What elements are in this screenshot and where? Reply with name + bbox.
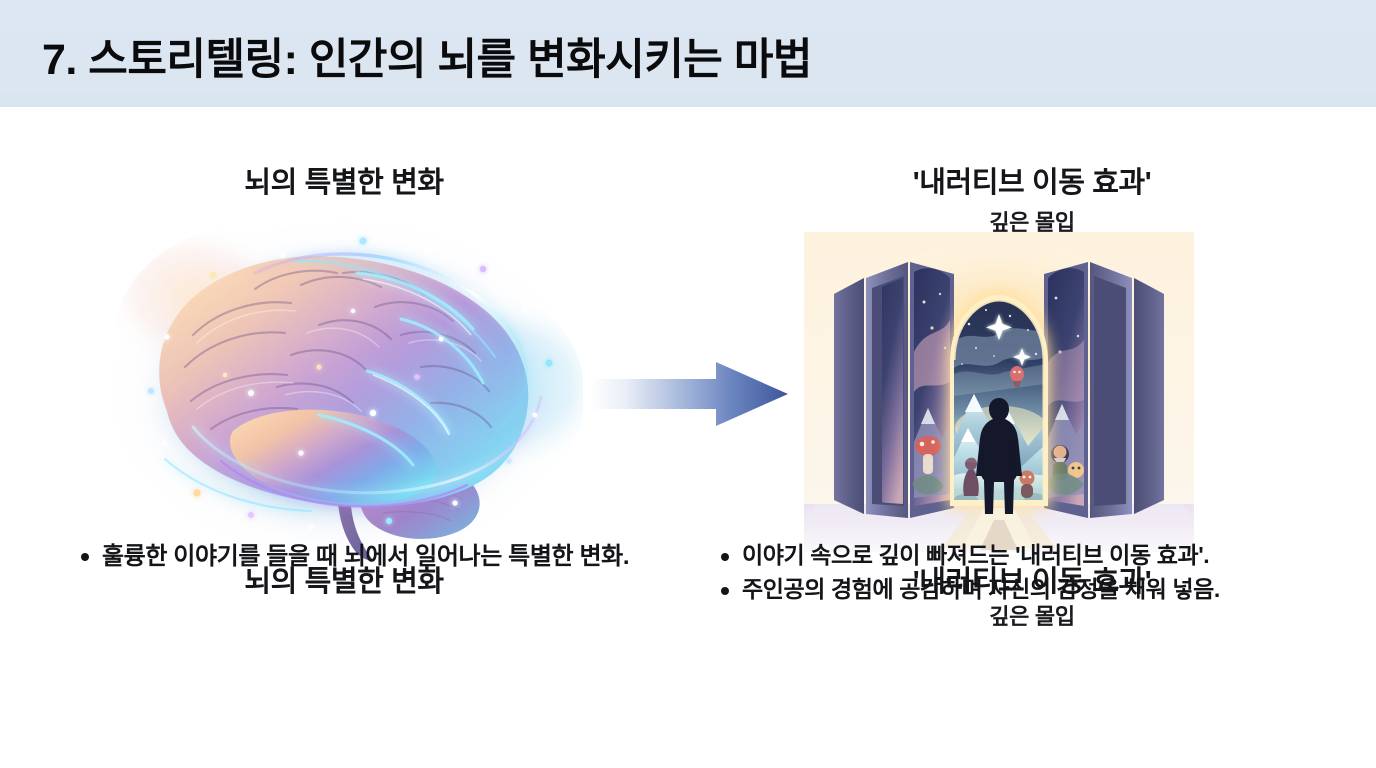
right-panel: '내러티브 이동 효과' 깊은 몰입: [688, 107, 1376, 768]
list-item: 훌륭한 이야기를 들을 때 뇌에서 일어나는 특별한 변화.: [76, 540, 656, 573]
door-figure: [804, 232, 1194, 552]
left-bullet-list: 훌륭한 이야기를 들을 때 뇌에서 일어나는 특별한 변화.: [76, 540, 656, 575]
arrow-right-icon: [588, 358, 790, 430]
open-doors-portal-illustration: [804, 232, 1194, 552]
brain-svg: [105, 215, 583, 567]
right-heading-top: '내러티브 이동 효과': [688, 159, 1376, 201]
glowing-brain-illustration: [105, 215, 583, 567]
page-title: 7. 스토리텔링: 인간의 뇌를 변화시키는 마법: [42, 25, 812, 87]
left-panel: 뇌의 특별한 변화: [0, 107, 688, 768]
brain-figure: [105, 215, 583, 567]
slide-root: 7. 스토리텔링: 인간의 뇌를 변화시키는 마법 뇌의 특별한 변화: [0, 0, 1376, 768]
transition-arrow: [588, 358, 790, 430]
left-heading-top: 뇌의 특별한 변화: [0, 159, 688, 201]
right-bullet-list: 이야기 속으로 깊이 빠져드는 '내러티브 이동 효과'. 주인공의 경험에 공…: [716, 540, 1356, 607]
list-item: 주인공의 경험에 공감하며 자신의 감정을 채워 넣음.: [716, 574, 1356, 606]
list-item: 이야기 속으로 깊이 빠져드는 '내러티브 이동 효과'.: [716, 540, 1356, 572]
